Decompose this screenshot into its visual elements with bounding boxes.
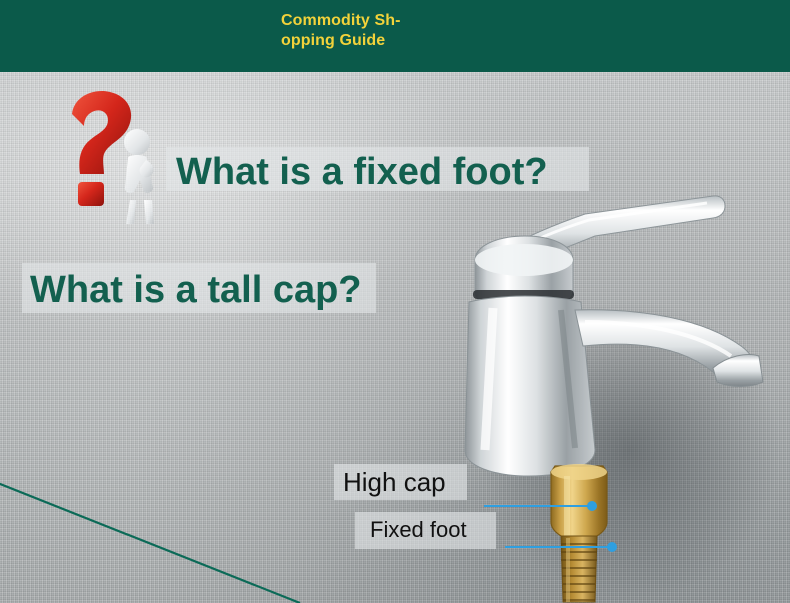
- top-banner: Commodity Sh- opping Guide: [0, 0, 790, 72]
- banner-title: Commodity Sh- opping Guide: [281, 11, 491, 51]
- callout-leader-lines: [0, 72, 790, 603]
- product-guide-image: What is a fixed foot? What is a tall cap…: [0, 0, 790, 603]
